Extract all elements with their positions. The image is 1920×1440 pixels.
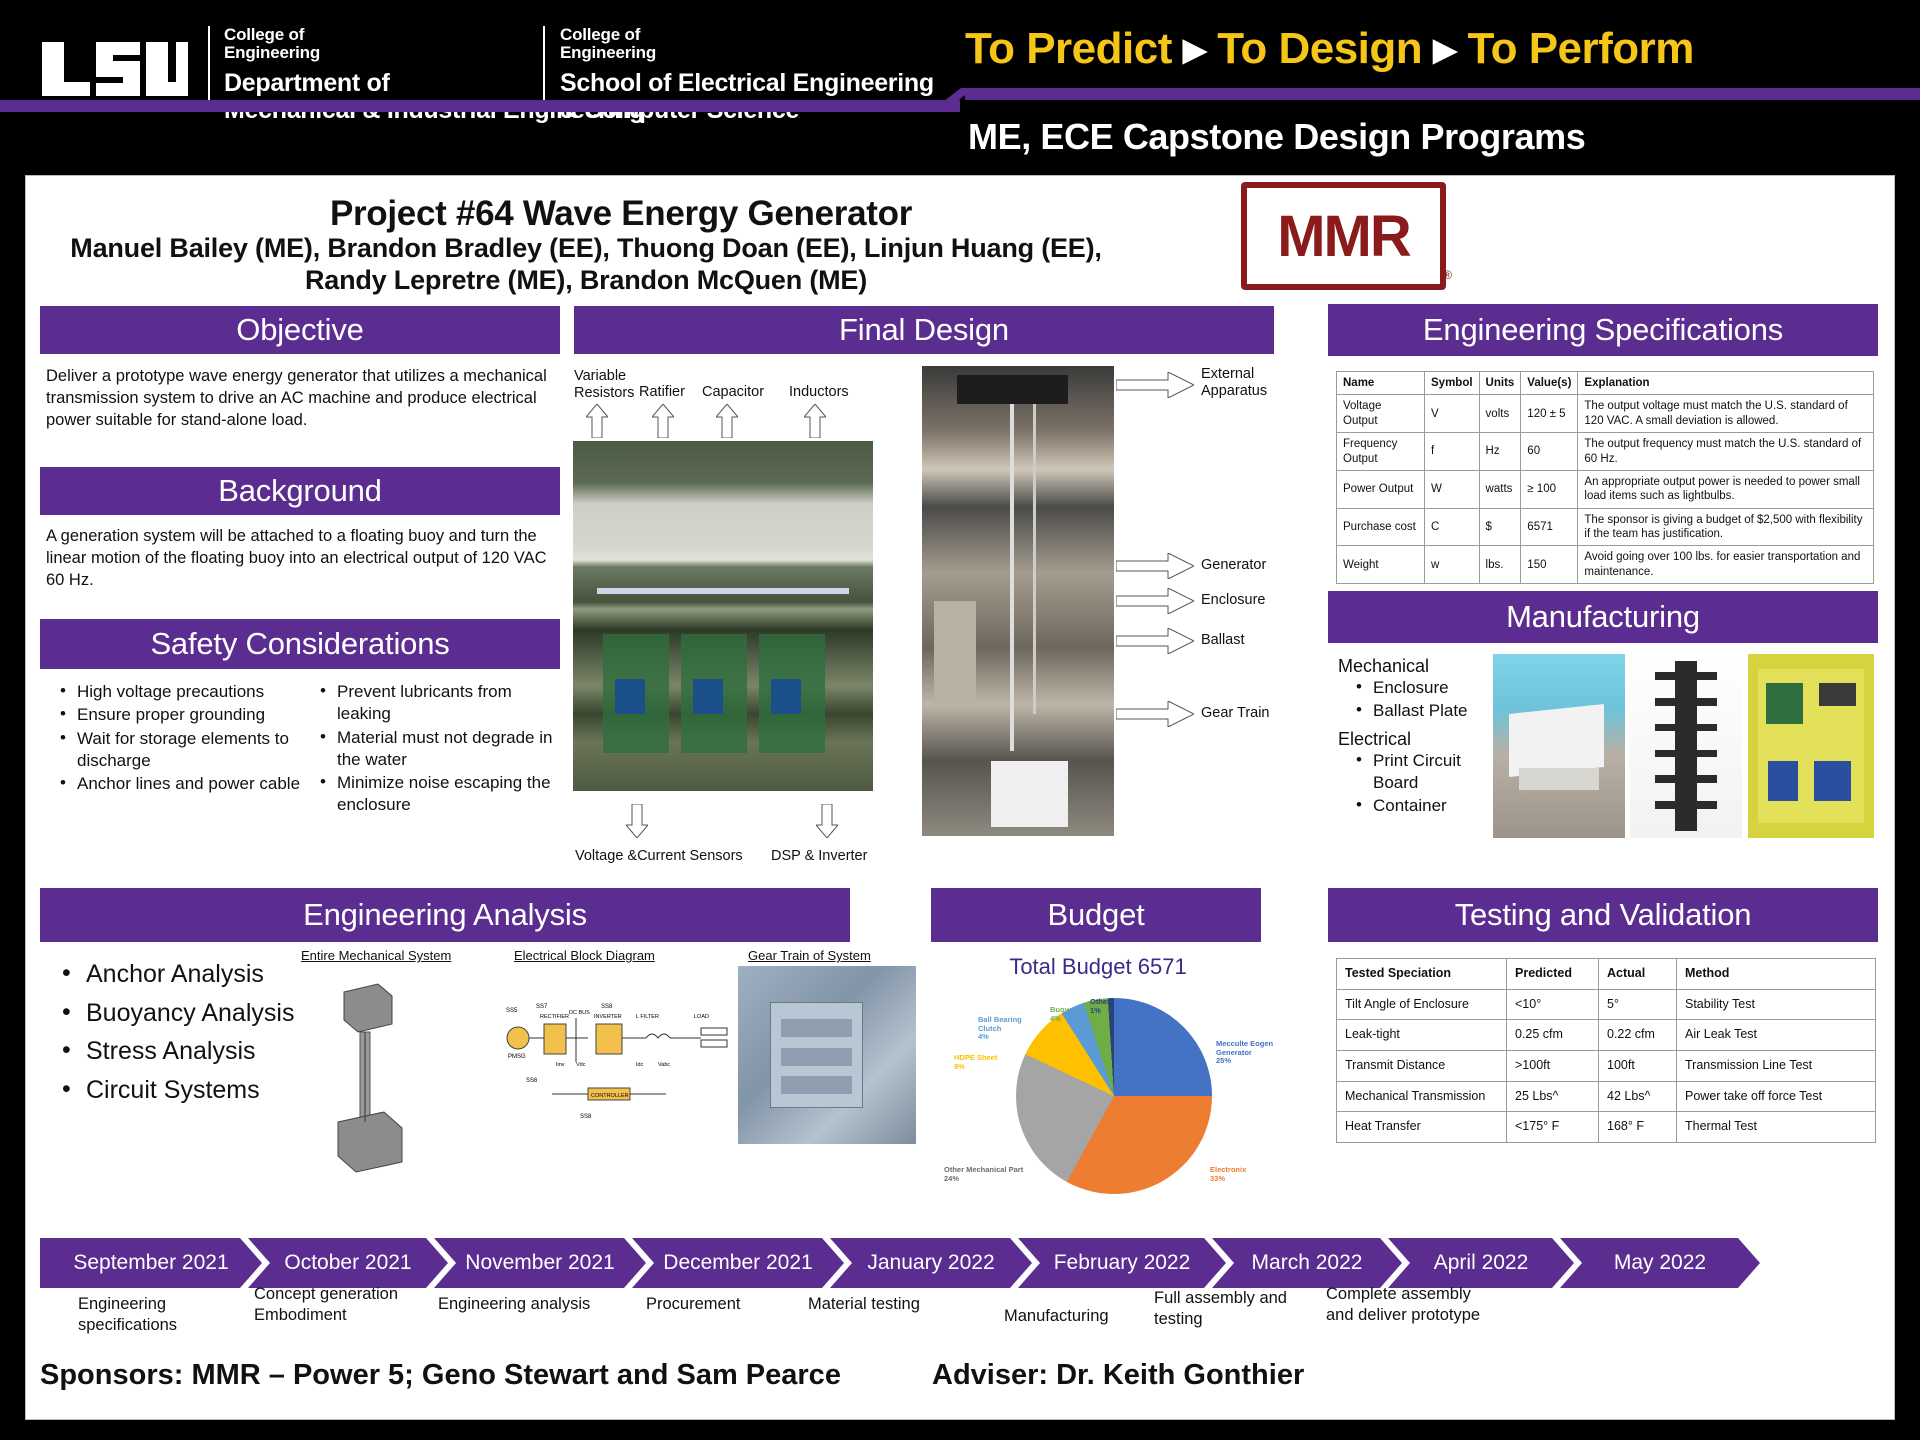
cell-units: $ (1479, 508, 1521, 546)
cell-actual: 168° F (1599, 1112, 1677, 1143)
cell-units: lbs. (1479, 546, 1521, 584)
analysis-list: Anchor Analysis Buoyancy Analysis Stress… (56, 956, 316, 1110)
svg-text:INVERTER: INVERTER (594, 1014, 622, 1020)
specs-heading: Engineering Specifications (1423, 312, 1783, 348)
arrow-up-icon-3 (716, 404, 738, 438)
tagline-perform: To Perform (1468, 24, 1694, 74)
safety-list-col2: Prevent lubricants from leaking Material… (316, 681, 561, 818)
svg-text:DC BUS: DC BUS (569, 1010, 590, 1016)
header-divider-2 (543, 26, 545, 110)
cell-predicted: 0.25 cfm (1507, 1020, 1599, 1051)
cell-value: ≥ 100 (1521, 470, 1578, 508)
cell-predicted: <10° (1507, 989, 1599, 1020)
photo-electronics-enclosure (573, 441, 873, 791)
section-header-final-design: Final Design (574, 306, 1274, 354)
col-predicted: Predicted (1507, 959, 1599, 990)
section-header-specs: Engineering Specifications (1328, 304, 1878, 356)
cell-method: Air Leak Test (1677, 1020, 1876, 1051)
cell-method: Power take off force Test (1677, 1081, 1876, 1112)
timeline-note-7: Full assembly and testing (1154, 1288, 1294, 1331)
triangle-right-icon-1: ▶ (1183, 34, 1206, 65)
cell-name: Power Output (1337, 470, 1425, 508)
svg-text:SS5: SS5 (506, 1008, 518, 1014)
pie-label-generator-pct: 25% (1216, 1056, 1231, 1065)
triangle-right-icon-2: ▶ (1433, 34, 1456, 65)
label-dsp-inverter: DSP & Inverter (771, 848, 867, 865)
manufacturing-group-mechanical: Mechanical (1338, 656, 1488, 677)
timeline-note-5: Material testing (808, 1294, 958, 1315)
arrow-up-icon-1 (586, 404, 608, 438)
background-heading: Background (218, 473, 381, 509)
budget-chart: Total Budget 6571 Mecculte Eogen Generat… (938, 954, 1258, 1194)
cell-units: volts (1479, 395, 1521, 433)
label-inductors: Inductors (789, 384, 849, 401)
cell-actual: 100ft (1599, 1050, 1677, 1081)
timeline-note-1: Engineering specifications (78, 1294, 198, 1337)
dept-ece-engineering: Engineering (560, 44, 934, 62)
timeline-note-2: Concept generation Embodiment (254, 1284, 424, 1327)
cell-actual: 42 Lbs^ (1599, 1081, 1677, 1112)
testing-validation-table: Tested Speciation Predicted Actual Metho… (1336, 958, 1876, 1143)
manufacturing-heading: Manufacturing (1506, 599, 1700, 635)
list-item: Wait for storage elements to discharge (56, 728, 306, 773)
timeline-month-3: November 2021 (434, 1238, 646, 1288)
cell-value: 150 (1521, 546, 1578, 584)
cell-value: 120 ± 5 (1521, 395, 1578, 433)
svg-text:CONTROLLER: CONTROLLER (591, 1093, 629, 1099)
budget-pie-graphic (1016, 998, 1212, 1194)
list-item: Print Circuit Board (1352, 750, 1488, 795)
cell-spec: Tilt Angle of Enclosure (1337, 989, 1507, 1020)
pie-label-hdpe-pct: 9% (954, 1062, 965, 1071)
cell-name: Voltage Output (1337, 395, 1425, 433)
timeline-month-5-label: January 2022 (867, 1251, 994, 1275)
timeline-month-6: February 2022 (1018, 1238, 1226, 1288)
cell-symbol: f (1425, 433, 1480, 471)
background-text: A generation system will be attached to … (46, 526, 556, 592)
cell-spec: Heat Transfer (1337, 1112, 1507, 1143)
table-row: Heat Transfer <175° F 168° F Thermal Tes… (1337, 1112, 1876, 1143)
manufacturing-elec-items: Print Circuit Board Container (1352, 750, 1488, 818)
cell-value: 60 (1521, 433, 1578, 471)
registered-trademark-icon: ® (1443, 268, 1452, 282)
objective-text: Deliver a prototype wave energy generato… (46, 366, 556, 432)
section-header-manufacturing: Manufacturing (1328, 591, 1878, 643)
cell-symbol: w (1425, 546, 1480, 584)
arrow-down-icon-1 (626, 804, 648, 838)
cell-method: Thermal Test (1677, 1112, 1876, 1143)
col-actual: Actual (1599, 959, 1677, 990)
safety-heading: Safety Considerations (150, 626, 449, 662)
table-row: Leak-tight 0.25 cfm 0.22 cfm Air Leak Te… (1337, 1020, 1876, 1051)
timeline-month-1-label: September 2021 (73, 1251, 228, 1275)
svg-text:Vdc: Vdc (576, 1062, 586, 1068)
sponsor-logo-text: MMR (1277, 203, 1410, 270)
pie-label-other: Other 1% (1090, 998, 1110, 1015)
budget-chart-title: Total Budget 6571 (938, 954, 1258, 980)
header-rule-left (0, 100, 960, 112)
label-enclosure: Enclosure (1201, 592, 1265, 609)
engineering-specs-table: Name Symbol Units Value(s) Explanation V… (1336, 371, 1874, 584)
timeline-month-4-label: December 2021 (663, 1251, 812, 1275)
list-item: Circuit Systems (56, 1072, 316, 1110)
timeline-note-6: Manufacturing (1004, 1306, 1154, 1327)
pie-label-clutch-pct: 4% (978, 1032, 989, 1041)
cell-spec: Transmit Distance (1337, 1050, 1507, 1081)
cell-symbol: C (1425, 508, 1480, 546)
timeline-month-8-label: April 2022 (1434, 1251, 1529, 1275)
cell-actual: 0.22 cfm (1599, 1020, 1677, 1051)
arrow-right-icon-gear-train (1116, 701, 1194, 727)
table-row: Weight w lbs. 150 Avoid going over 100 l… (1337, 546, 1874, 584)
section-header-analysis: Engineering Analysis (40, 888, 850, 942)
timeline-month-9-label: May 2022 (1614, 1251, 1706, 1275)
adviser-text: Adviser: Dr. Keith Gonthier (932, 1359, 1304, 1392)
tagline-design: To Design (1217, 24, 1422, 74)
pie-label-buoy: Buoy 4% (1050, 1006, 1069, 1023)
arrow-up-icon-4 (804, 404, 826, 438)
pie-label-hdpe: HDPE Sheet 9% (954, 1054, 997, 1071)
cell-explanation: The sponsor is giving a budget of $2,500… (1578, 508, 1874, 546)
cell-units: watts (1479, 470, 1521, 508)
cell-explanation: Avoid going over 100 lbs. for easier tra… (1578, 546, 1874, 584)
list-item: Anchor Analysis (56, 956, 316, 994)
cell-predicted: 25 Lbs^ (1507, 1081, 1599, 1112)
objective-heading: Objective (236, 312, 363, 348)
timeline-month-1: September 2021 (40, 1238, 262, 1288)
author-list: Manuel Bailey (ME), Brandon Bradley (EE)… (26, 233, 1146, 296)
table-row: Purchase cost C $ 6571 The sponsor is gi… (1337, 508, 1874, 546)
timeline-month-9: May 2022 (1560, 1238, 1760, 1288)
pie-label-buoy-pct: 4% (1050, 1014, 1061, 1023)
pie-label-other-mech: Other Mechanical Part 24% (944, 1166, 1026, 1183)
caption-block-diagram: Electrical Block Diagram (514, 948, 655, 963)
electrical-block-diagram: PMSG SS5 RECTIFIER SS7 DC BUS INVERTER S… (496, 966, 746, 1136)
table-header-row: Name Symbol Units Value(s) Explanation (1337, 372, 1874, 395)
page-header: College of Engineering Department of Mec… (0, 0, 1920, 172)
pie-label-clutch-text: Ball Bearing Clutch (978, 1015, 1022, 1033)
label-capacitor: Capacitor (702, 384, 764, 401)
timeline-note-3: Engineering analysis (438, 1294, 618, 1315)
svg-text:LOAD: LOAD (694, 1014, 709, 1020)
cell-explanation: The output frequency must match the U.S.… (1578, 433, 1874, 471)
caption-mechanical-system: Entire Mechanical System (301, 948, 451, 963)
cell-method: Transmission Line Test (1677, 1050, 1876, 1081)
photo-test-apparatus (922, 366, 1114, 836)
svg-text:Iinv: Iinv (556, 1062, 565, 1068)
table-row: Voltage Output V volts 120 ± 5 The outpu… (1337, 395, 1874, 433)
dept-ece-school: School of Electrical Engineering (560, 70, 934, 97)
author-line-2: Randy Lepretre (ME), Brandon McQuen (ME) (305, 265, 867, 295)
table-row: Frequency Output f Hz 60 The output freq… (1337, 433, 1874, 471)
svg-text:RECTIFIER: RECTIFIER (540, 1014, 569, 1020)
section-header-objective: Objective (40, 306, 560, 354)
cad-gear-train (738, 966, 916, 1144)
list-item: High voltage precautions (56, 681, 306, 703)
lsu-logo (38, 38, 188, 100)
table-row: Power Output W watts ≥ 100 An appropriat… (1337, 470, 1874, 508)
capstone-program-title: ME, ECE Capstone Design Programs (968, 116, 1585, 158)
safety-list-col1: High voltage precautions Ensure proper g… (56, 681, 306, 796)
cell-explanation: An appropriate output power is needed to… (1578, 470, 1874, 508)
list-item: Ensure proper grounding (56, 704, 306, 726)
timeline-month-4: December 2021 (632, 1238, 844, 1288)
section-header-background: Background (40, 467, 560, 515)
list-item: Ballast Plate (1352, 700, 1488, 722)
svg-text:SS8: SS8 (601, 1004, 613, 1010)
arrow-right-icon-external (1116, 372, 1194, 398)
list-item: Stress Analysis (56, 1033, 316, 1071)
table-row: Transmit Distance >100ft 100ft Transmiss… (1337, 1050, 1876, 1081)
timeline-note-8: Complete assembly and deliver prototype (1326, 1284, 1494, 1327)
header-rule-right (965, 88, 1920, 100)
cell-name: Weight (1337, 546, 1425, 584)
col-method: Method (1677, 959, 1876, 990)
cell-predicted: >100ft (1507, 1050, 1599, 1081)
section-header-budget: Budget (931, 888, 1261, 942)
manufacturing-mech-items: Enclosure Ballast Plate (1352, 677, 1488, 723)
pie-label-clutch: Ball Bearing Clutch 4% (978, 1016, 1040, 1042)
tagline-predict: To Predict (965, 24, 1172, 74)
photo-pcb (1748, 654, 1874, 838)
timeline-month-3-label: November 2021 (465, 1251, 614, 1275)
tagline: To Predict ▶ To Design ▶ To Perform (965, 24, 1694, 74)
list-item: Enclosure (1352, 677, 1488, 699)
label-variable-resistors: Variable Resistors (574, 368, 634, 403)
timeline-month-8: April 2022 (1388, 1238, 1574, 1288)
col-units: Units (1479, 372, 1521, 395)
label-voltage-current-sensors: Voltage &Current Sensors (575, 848, 743, 865)
cell-value: 6571 (1521, 508, 1578, 546)
timeline-month-5: January 2022 (830, 1238, 1032, 1288)
timeline-month-7: March 2022 (1212, 1238, 1402, 1288)
manufacturing-group-electrical: Electrical (1338, 729, 1488, 750)
pie-label-electronix: Electronix 33% (1210, 1166, 1246, 1183)
cell-symbol: W (1425, 470, 1480, 508)
cell-units: Hz (1479, 433, 1521, 471)
cell-explanation: The output voltage must match the U.S. s… (1578, 395, 1874, 433)
timeline-month-7-label: March 2022 (1252, 1251, 1363, 1275)
arrow-right-icon-enclosure (1116, 588, 1194, 614)
timeline-month-6-label: February 2022 (1054, 1251, 1191, 1275)
photo-gear-part (1630, 654, 1742, 838)
section-header-testing: Testing and Validation (1328, 888, 1878, 942)
list-item: Prevent lubricants from leaking (316, 681, 561, 726)
svg-text:L FILTER: L FILTER (636, 1014, 659, 1020)
timeline-note-4: Procurement (646, 1294, 796, 1315)
table-header-row: Tested Speciation Predicted Actual Metho… (1337, 959, 1876, 990)
analysis-heading: Engineering Analysis (303, 897, 587, 933)
col-name: Name (1337, 372, 1425, 395)
label-generator: Generator (1201, 557, 1266, 574)
manufacturing-lists: Mechanical Enclosure Ballast Plate Elect… (1338, 656, 1488, 818)
col-tested-spec: Tested Speciation (1337, 959, 1507, 990)
list-item: Minimize noise escaping the enclosure (316, 772, 561, 817)
caption-gear-train: Gear Train of System (748, 948, 871, 963)
cell-symbol: V (1425, 395, 1480, 433)
pie-label-other-mech-pct: 24% (944, 1174, 959, 1183)
col-values: Value(s) (1521, 372, 1578, 395)
photo-enclosure-model (1493, 654, 1625, 838)
arrow-up-icon-2 (652, 404, 674, 438)
svg-text:SS7: SS7 (536, 1004, 548, 1010)
svg-text:SS6: SS6 (526, 1078, 538, 1084)
sponsor-logo-mmr: MMR ® (1241, 182, 1446, 290)
label-external-apparatus: External Apparatus (1201, 366, 1296, 401)
table-row: Tilt Angle of Enclosure <10° 5° Stabilit… (1337, 989, 1876, 1020)
list-item: Material must not degrade in the water (316, 727, 561, 772)
list-item: Container (1352, 795, 1488, 817)
list-item: Anchor lines and power cable (56, 773, 306, 795)
svg-text:SS8: SS8 (580, 1114, 592, 1120)
arrow-down-icon-2 (816, 804, 838, 838)
sponsors-text: Sponsors: MMR – Power 5; Geno Stewart an… (40, 1359, 841, 1392)
cell-actual: 5° (1599, 989, 1677, 1020)
poster-canvas: Project #64 Wave Energy Generator Manuel… (25, 175, 1895, 1420)
cell-name: Frequency Output (1337, 433, 1425, 471)
arrow-right-icon-generator (1116, 553, 1194, 579)
timeline-month-2-label: October 2021 (284, 1251, 411, 1275)
dept-ece-college: College of (560, 26, 934, 44)
section-header-safety: Safety Considerations (40, 619, 560, 669)
final-design-heading: Final Design (839, 312, 1009, 348)
page-title: Project #64 Wave Energy Generator (26, 194, 1216, 234)
cell-method: Stability Test (1677, 989, 1876, 1020)
cell-predicted: <175° F (1507, 1112, 1599, 1143)
cad-mechanical-system (316, 976, 416, 1176)
arrow-right-icon-ballast (1116, 628, 1194, 654)
label-gear-train: Gear Train (1201, 705, 1270, 722)
pie-label-generator: Mecculte Eogen Generator 25% (1216, 1040, 1282, 1066)
col-symbol: Symbol (1425, 372, 1480, 395)
svg-text:Vabc: Vabc (658, 1062, 670, 1068)
pie-label-generator-text: Mecculte Eogen Generator (1216, 1039, 1273, 1057)
timeline-month-2: October 2021 (248, 1238, 448, 1288)
pie-label-electronix-pct: 33% (1210, 1174, 1225, 1183)
testing-heading: Testing and Validation (1455, 897, 1752, 933)
table-row: Mechanical Transmission 25 Lbs^ 42 Lbs^ … (1337, 1081, 1876, 1112)
svg-text:Idc: Idc (636, 1062, 644, 1068)
cell-name: Purchase cost (1337, 508, 1425, 546)
author-line-1: Manuel Bailey (ME), Brandon Bradley (EE)… (70, 233, 1101, 263)
pie-label-other-pct: 1% (1090, 1006, 1101, 1015)
budget-heading: Budget (1047, 897, 1144, 933)
list-item: Buoyancy Analysis (56, 995, 316, 1033)
label-ratifier: Ratifier (639, 384, 685, 401)
header-divider-1 (208, 26, 210, 110)
label-ballast: Ballast (1201, 632, 1245, 649)
cell-spec: Mechanical Transmission (1337, 1081, 1507, 1112)
svg-text:PMSG: PMSG (508, 1054, 526, 1060)
col-explanation: Explanation (1578, 372, 1874, 395)
cell-spec: Leak-tight (1337, 1020, 1507, 1051)
